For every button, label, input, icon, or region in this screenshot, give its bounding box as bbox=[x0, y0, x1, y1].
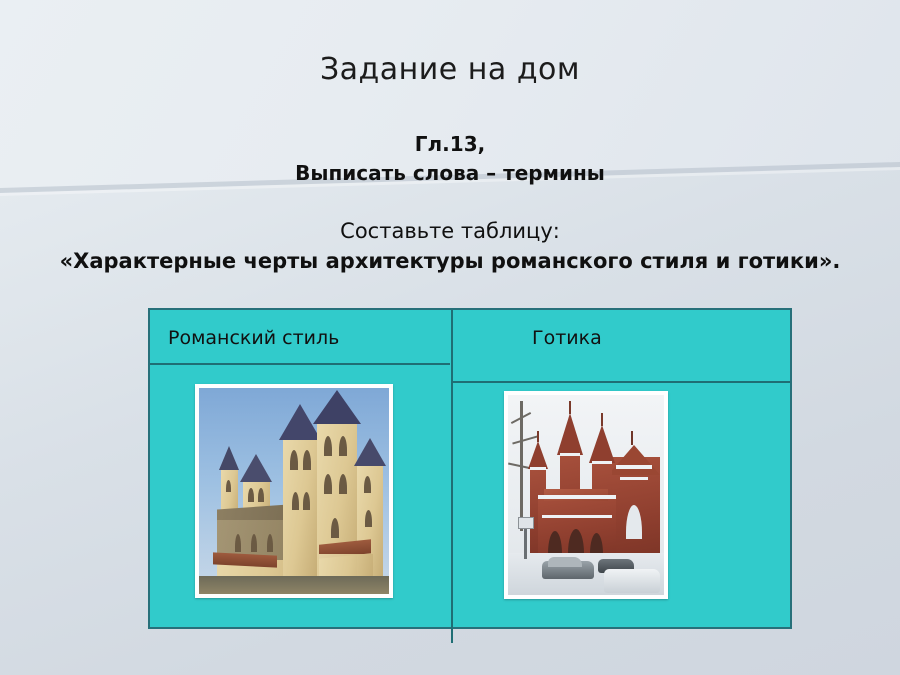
task-intro-text: Составьте таблицу: bbox=[0, 216, 900, 246]
table-header-romanesque: Романский стиль bbox=[150, 310, 452, 365]
comparison-table: Романский стиль Готика bbox=[148, 308, 792, 629]
romanesque-church-photo bbox=[195, 384, 393, 598]
assignment-instruction: Выписать слова – термины bbox=[0, 159, 900, 188]
table-header-gothic: Готика bbox=[452, 310, 790, 365]
slide-canvas: Задание на дом Гл.13, Выписать слова – т… bbox=[0, 0, 900, 675]
table-cell-romanesque bbox=[150, 365, 452, 629]
page-title: Задание на дом bbox=[0, 52, 900, 87]
assignment-chapter: Гл.13, bbox=[0, 130, 900, 159]
table-cell-gothic bbox=[452, 365, 790, 629]
table-header-row: Романский стиль Готика bbox=[150, 310, 790, 365]
assignment-subtitle: Гл.13, Выписать слова – термины bbox=[0, 130, 900, 188]
gothic-church-photo bbox=[504, 391, 668, 599]
table-body-row bbox=[150, 365, 790, 629]
task-description: Составьте таблицу: «Характерные черты ар… bbox=[0, 216, 900, 277]
task-topic-text: «Характерные черты архитектуры романског… bbox=[0, 246, 900, 276]
